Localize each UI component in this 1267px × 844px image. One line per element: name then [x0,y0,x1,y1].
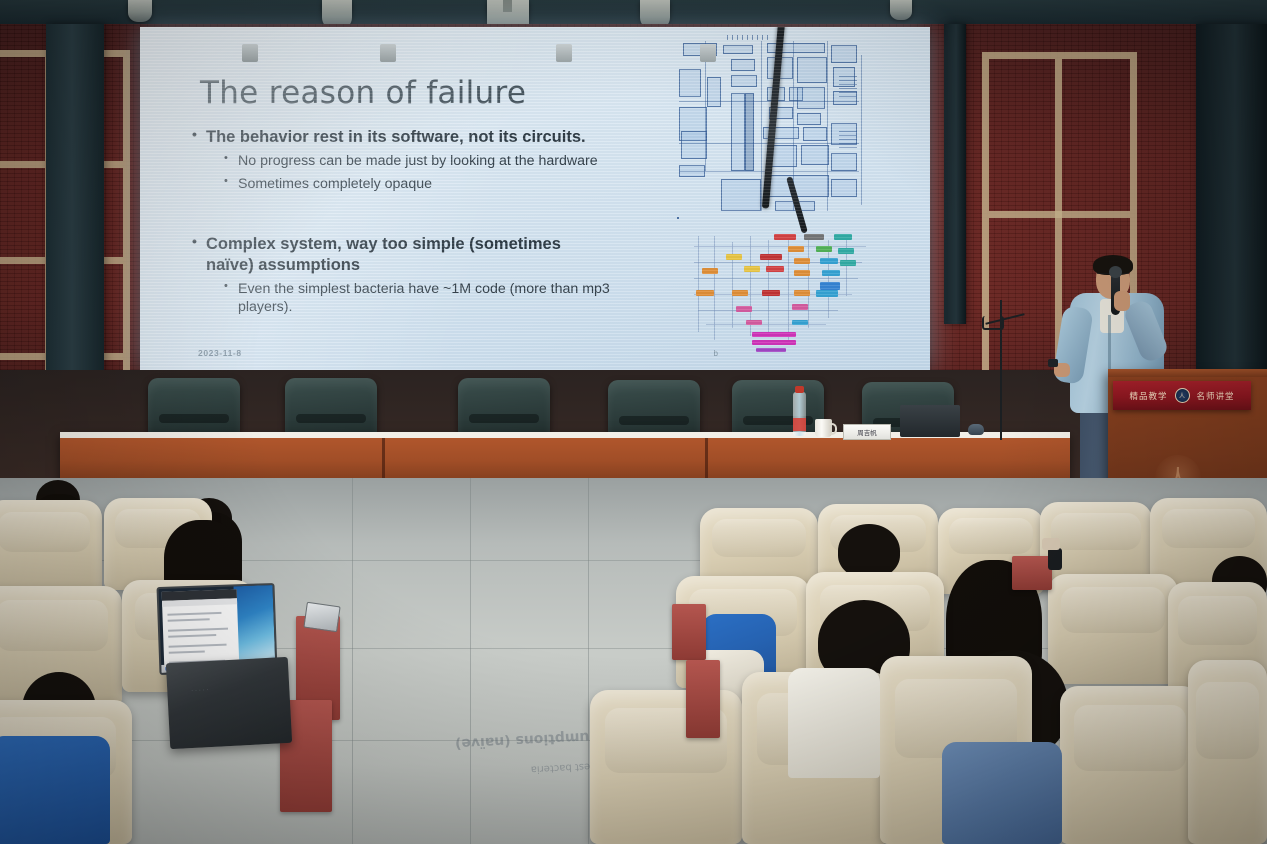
stage-chair [148,378,240,440]
seat-desk-arm [672,604,706,660]
table-nameplate: 周吉帆 [843,424,891,440]
seat-desk-arm [686,660,720,738]
room-pillar [944,24,966,324]
spotlight-neck [503,0,512,12]
banner-text-left: 精品教学 [1129,390,1167,402]
slide-date: 2023-11-8 [198,348,242,358]
computer-mouse [968,424,984,435]
audience-person-shirt [942,742,1062,844]
stage-chair [285,378,377,440]
gene-regulatory-network-diagram [688,232,873,357]
laptop-lid-label: · · · · · [191,687,209,694]
microphone-stand-pole [1000,300,1002,440]
audience-person-shirt [788,668,880,778]
audience-phone[interactable] [1048,548,1062,570]
slide-title: The reason of failure [200,75,526,111]
banner-text-right: 名师讲堂 [1197,390,1235,402]
chair-gap-filler [700,44,716,62]
slide-bullet-level2: Sometimes completely opaque [192,176,612,194]
floor-projection-spill: assumptions (naïve) simplest bacteria [315,727,620,844]
hardware-block-diagram [675,35,890,225]
presenter-right-hand [1114,291,1130,311]
emblem-glyph: 人 [1179,391,1185,400]
podium-top-surface [1108,369,1267,377]
audience-seat [1048,574,1178,684]
slide-bullet-level2: Even the simplest bacteria have ~1M code… [192,281,612,317]
slide-bullet-list: The behavior rest in its software, not i… [192,127,612,317]
stage-laptop [900,405,960,437]
audience-tablet[interactable] [303,602,340,632]
podium-banner: 精品教学 人 名师讲堂 [1113,381,1251,410]
university-emblem-icon: 人 [1175,388,1190,403]
head-table [60,432,1070,484]
slide-bullet-level2: No progress can be made just by looking … [192,153,612,171]
slide-bullet-group: Complex system, way too simple (sometime… [192,234,612,317]
audience-seat [1188,660,1267,844]
slide-bullet-level1: Complex system, way too simple (sometime… [192,234,612,276]
chair-gap-filler [242,44,258,62]
seat-desk-arm [1012,556,1052,590]
audience-head [838,524,900,578]
audience-phone[interactable] [1042,538,1060,550]
presentation-clicker [1048,359,1058,367]
window-toolbar [162,598,237,607]
water-bottle [793,392,806,436]
spill-text-line2: simplest bacteria [317,759,617,786]
audience-seat [0,500,102,596]
chair-gap-filler [556,44,572,62]
audience-person-shirt [0,736,110,844]
nameplate-label: 周吉帆 [857,427,877,437]
ceiling-spotlight [128,0,152,22]
stage-chair [458,378,550,440]
projection-screen: The reason of failure The behavior rest … [140,27,930,370]
audience-closed-laptop[interactable]: · · · · · [166,657,292,749]
ceiling-spotlight [890,0,912,20]
audience-seat [1060,686,1200,844]
lecture-hall-scene: The reason of failure The behavior rest … [0,0,1267,844]
laptop-document-window [162,589,240,671]
ceramic-mug [815,419,832,437]
chair-gap-filler [380,44,396,62]
slide-bullet-level1: The behavior rest in its software, not i… [192,127,612,148]
